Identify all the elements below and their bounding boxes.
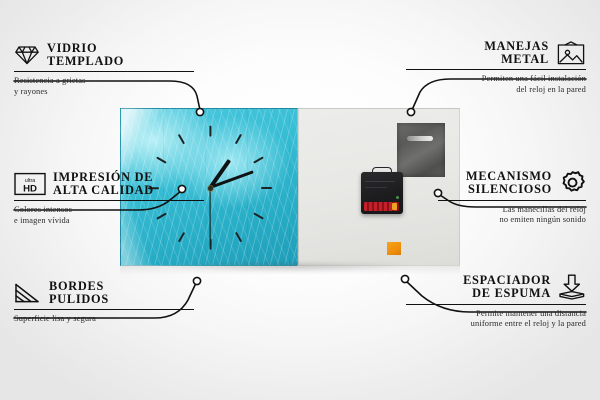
feature-title: MANEJAS METAL	[484, 40, 549, 65]
feature-header: ESPACIADOR DE ESPUMA	[406, 274, 586, 300]
clock-tick	[209, 239, 211, 250]
clock-center-hub	[208, 186, 213, 191]
feature-header: ultra HD IMPRESIÓN DE ALTA CALIDAD	[14, 171, 204, 196]
feature-divider	[14, 71, 194, 73]
feature-title: IMPRESIÓN DE ALTA CALIDAD	[53, 171, 154, 196]
svg-text:HD: HD	[23, 183, 37, 194]
clock-tick	[209, 126, 211, 137]
feature-description: Colores intensos e imagen vívida	[14, 205, 204, 226]
feature-description: Las manecillas del reloj no emiten ningú…	[438, 205, 586, 226]
feature-impresion-alta-calidad: ultra HD IMPRESIÓN DE ALTA CALIDAD Color…	[14, 171, 204, 226]
hanger-slot	[407, 136, 433, 141]
feature-header: VIDRIO TEMPLADO	[14, 42, 194, 67]
feature-description: Resistencia a grietas y rayones	[14, 76, 194, 97]
feature-divider	[406, 69, 586, 71]
clock-tick	[254, 213, 265, 220]
battery	[364, 202, 399, 211]
connector-dot-bordes	[193, 277, 200, 284]
battery-terminal	[392, 203, 397, 210]
movement-indicator-dot	[396, 196, 399, 199]
clock-tick	[235, 232, 242, 243]
feature-espaciador-espuma: ESPACIADOR DE ESPUMA Permite mantener un…	[406, 274, 586, 330]
feature-header: BORDES PULIDOS	[14, 280, 194, 305]
feature-description: Permite mantener una distancia uniforme …	[406, 309, 586, 330]
feature-title: BORDES PULIDOS	[49, 280, 109, 305]
feature-divider	[14, 309, 194, 311]
gear-icon	[559, 170, 586, 196]
feature-title: MECANISMO SILENCIOSO	[466, 170, 552, 195]
foam-spacer-pad	[387, 242, 401, 255]
feature-divider	[14, 200, 204, 202]
feature-manejas-metal: MANEJAS METAL Permiten una fácil instala…	[406, 40, 586, 95]
quartz-movement	[361, 172, 403, 214]
feature-header: MECANISMO SILENCIOSO	[438, 170, 586, 196]
infographic-canvas: VIDRIO TEMPLADO Resistencia a grietas y …	[0, 0, 600, 400]
wall-hanger-icon	[556, 41, 586, 65]
clock-tick	[261, 187, 272, 189]
ultra-hd-icon: ultra HD	[14, 172, 46, 196]
clock-tick	[178, 134, 185, 145]
feature-divider	[438, 200, 586, 202]
feature-bordes-pulidos: BORDES PULIDOS Superficie lisa y segura	[14, 280, 194, 325]
feature-header: MANEJAS METAL	[406, 40, 586, 65]
polished-edges-icon	[14, 282, 42, 304]
movement-hanger-lug	[372, 167, 392, 176]
metal-hanger-plate	[397, 123, 445, 177]
feature-vidrio-templado: VIDRIO TEMPLADO Resistencia a grietas y …	[14, 42, 194, 97]
feature-description: Superficie lisa y segura	[14, 314, 194, 324]
movement-detail-line	[365, 187, 387, 188]
clock-tick	[254, 156, 265, 163]
feature-divider	[406, 304, 586, 306]
clock-back-panel	[298, 108, 460, 266]
clock-tick	[178, 232, 185, 243]
clock-tick	[235, 134, 242, 145]
foam-spacer-icon	[558, 274, 586, 300]
feature-title: VIDRIO TEMPLADO	[47, 42, 124, 67]
clock-second-hand	[209, 188, 210, 244]
clock-tick	[156, 156, 167, 163]
diamond-icon	[14, 44, 40, 66]
feature-description: Permiten una fácil instalación del reloj…	[406, 74, 586, 95]
feature-title: ESPACIADOR DE ESPUMA	[463, 274, 551, 299]
movement-detail-line	[365, 181, 395, 182]
feature-mecanismo-silencioso: MECANISMO SILENCIOSO Las manecillas del …	[438, 170, 586, 226]
